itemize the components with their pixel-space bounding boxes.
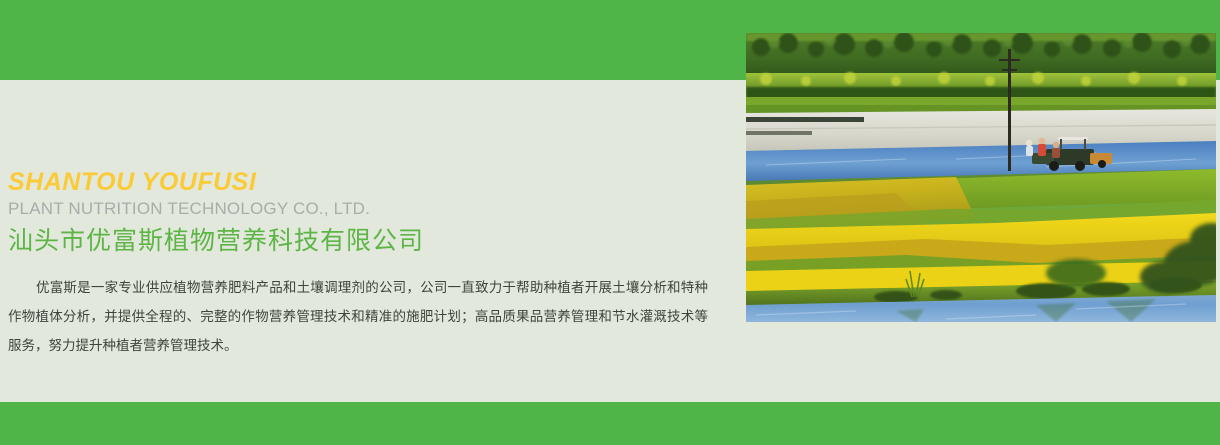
company-description-paragraph: 优富斯是一家专业供应植物营养肥料产品和土壤调理剂的公司，公司一直致力于帮助种植者… <box>8 273 708 360</box>
rice-paddy-photo-frame <box>746 33 1216 322</box>
brand-tagline-english: PLANT NUTRITION TECHNOLOGY CO., LTD. <box>8 199 370 219</box>
company-intro-section: SHANTOU YOUFUSI PLANT NUTRITION TECHNOLO… <box>0 80 746 402</box>
brand-name-english: SHANTOU YOUFUSI <box>8 168 256 197</box>
rice-paddy-photo <box>746 33 1216 322</box>
brand-name-chinese: 汕头市优富斯植物营养科技有限公司 <box>8 221 424 257</box>
bottom-green-band <box>0 402 1220 445</box>
